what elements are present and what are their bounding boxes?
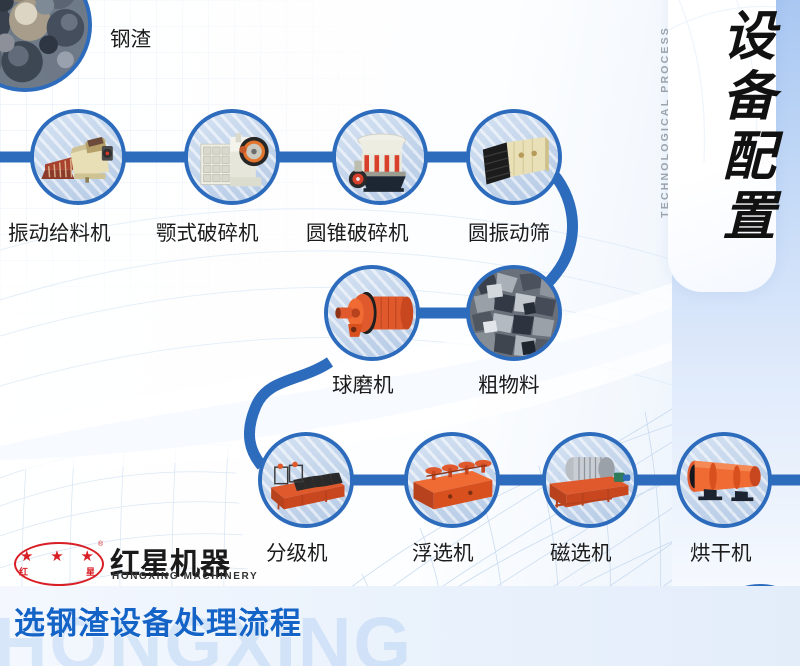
node-cone-crusher[interactable] xyxy=(332,109,428,205)
node-dryer[interactable] xyxy=(676,432,772,528)
label-vibrating-feeder: 振动给料机 xyxy=(8,216,111,246)
label-cone-crusher: 圆锥破碎机 xyxy=(306,216,409,246)
logo-sub-chars: 红 星 xyxy=(19,565,95,578)
label-magnetic-separator: 磁选机 xyxy=(550,536,612,566)
cone-crusher-illustration xyxy=(336,113,424,201)
steel-slag-photo xyxy=(0,0,88,88)
label-flotation-machine: 浮选机 xyxy=(412,536,474,566)
classifier-illustration xyxy=(262,436,350,524)
label-circular-vibrating-screen: 圆振动筛 xyxy=(468,216,550,246)
node-flotation-machine[interactable] xyxy=(404,432,500,528)
brand-logo[interactable]: ★ ★ ★ 红 星 ® 红星机器 HONGXING MACHINERY xyxy=(14,540,324,586)
node-magnetic-separator[interactable] xyxy=(542,432,638,528)
logo-char-xing: 星 xyxy=(86,565,95,578)
coarse-material-photo xyxy=(470,269,558,357)
poster-title: 选钢渣设备处理流程 xyxy=(14,598,302,643)
jaw-crusher-illustration xyxy=(188,113,276,201)
node-ball-mill[interactable] xyxy=(324,265,420,361)
vibrating-feeder-illustration xyxy=(34,113,122,201)
label-steel-slag: 钢渣 xyxy=(110,22,151,52)
star-icon-1: ★ xyxy=(20,549,33,564)
flotation-machine-illustration xyxy=(408,436,496,524)
registered-trademark-icon: ® xyxy=(98,541,103,548)
node-jaw-crusher[interactable] xyxy=(184,109,280,205)
label-jaw-crusher: 颚式破碎机 xyxy=(156,216,259,246)
magnetic-separator-illustration xyxy=(546,436,634,524)
logo-char-hong: 红 xyxy=(19,565,28,578)
dryer-illustration xyxy=(680,436,768,524)
poster-canvas: TECHNOLOGICAL PROCESS 设备配置 xyxy=(0,0,800,666)
node-vibrating-feeder[interactable] xyxy=(30,109,126,205)
node-coarse-material[interactable] xyxy=(466,265,562,361)
label-coarse-material: 粗物料 xyxy=(478,368,540,398)
brand-name-en: HONGXING MACHINERY xyxy=(112,571,258,582)
node-classifier[interactable] xyxy=(258,432,354,528)
vibrating-screen-illustration xyxy=(470,113,558,201)
logo-stars-icon: ★ ★ ★ xyxy=(20,548,94,564)
label-ball-mill: 球磨机 xyxy=(332,368,394,398)
star-icon-3: ★ xyxy=(81,549,94,564)
node-circular-vibrating-screen[interactable] xyxy=(466,109,562,205)
label-dryer: 烘干机 xyxy=(690,536,752,566)
ball-mill-illustration xyxy=(328,269,416,357)
star-icon-2: ★ xyxy=(50,549,63,564)
node-steel-slag[interactable] xyxy=(0,0,92,92)
